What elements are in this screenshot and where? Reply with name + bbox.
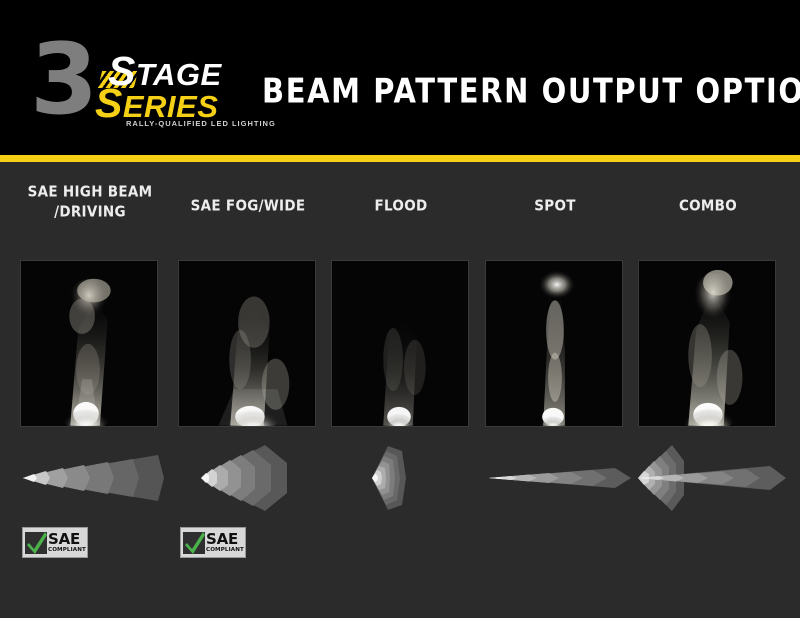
beam-photo-sae-fog-wide bbox=[178, 260, 316, 427]
column-header-flood: FLOOD bbox=[332, 196, 470, 216]
logo-numeral: 3 bbox=[30, 31, 94, 129]
beam-photo-render bbox=[21, 261, 157, 426]
beam-diagram-spot bbox=[485, 443, 637, 513]
checkmark-icon bbox=[25, 532, 47, 554]
beam-diagram-sae-high-beam-driving bbox=[18, 443, 168, 513]
sae-badge-text: SAE COMPLIANT bbox=[206, 532, 244, 554]
beam-diagram-render bbox=[628, 443, 793, 513]
column-header-combo: COMBO bbox=[639, 196, 777, 216]
beam-photo-render bbox=[332, 261, 468, 426]
column-header-sae-high-beam-driving: SAE HIGH BEAM /DRIVING bbox=[21, 182, 159, 221]
page-title: BEAM PATTERN OUTPUT OPTIONS bbox=[262, 74, 787, 108]
footer-strip bbox=[0, 618, 800, 622]
beam-diagram-render bbox=[485, 443, 637, 513]
column-label-line1: FLOOD bbox=[332, 196, 470, 218]
column-label-line1: SPOT bbox=[486, 196, 624, 218]
sae-compliant-badge-high-beam: SAE COMPLIANT bbox=[22, 527, 88, 558]
sae-badge-main: SAE bbox=[206, 532, 244, 547]
beam-diagram-render bbox=[193, 443, 313, 513]
brand-logo: 3 STAGE SERIES RALLY-QUALIFIED LED LIGHT… bbox=[30, 33, 240, 125]
beam-diagram-combo bbox=[628, 443, 793, 513]
checkmark-glyph bbox=[184, 530, 206, 556]
sae-badge-main: SAE bbox=[48, 532, 86, 547]
sae-badge-sub: COMPLIANT bbox=[48, 548, 86, 554]
column-label-line1: COMBO bbox=[639, 196, 777, 218]
column-label-line2: /DRIVING bbox=[21, 202, 159, 224]
column-label-line1: SAE HIGH BEAM bbox=[21, 182, 159, 204]
checkmark-icon bbox=[183, 532, 205, 554]
column-header-sae-fog-wide: SAE FOG/WIDE bbox=[179, 196, 317, 216]
column-header-spot: SPOT bbox=[486, 196, 624, 216]
beam-diagram-render bbox=[18, 443, 168, 513]
beam-photo-render bbox=[179, 261, 315, 426]
sae-badge-text: SAE COMPLIANT bbox=[48, 532, 86, 554]
logo-word-series: SERIES bbox=[95, 83, 218, 124]
beam-photo-combo bbox=[638, 260, 776, 427]
beam-diagram-render bbox=[362, 443, 438, 513]
beam-pattern-infographic: 3 STAGE SERIES RALLY-QUALIFIED LED LIGHT… bbox=[0, 0, 800, 622]
beam-photo-spot bbox=[485, 260, 623, 427]
logo-tagline: RALLY-QUALIFIED LED LIGHTING bbox=[126, 119, 276, 128]
checkmark-glyph bbox=[26, 530, 48, 556]
sae-badge-sub: COMPLIANT bbox=[206, 548, 244, 554]
accent-divider bbox=[0, 155, 800, 162]
beam-diagram-flood bbox=[362, 443, 438, 513]
beam-photo-sae-high-beam-driving bbox=[20, 260, 158, 427]
column-label-line1: SAE FOG/WIDE bbox=[179, 196, 317, 218]
beam-photo-render bbox=[486, 261, 622, 426]
beam-diagram-sae-fog-wide bbox=[193, 443, 313, 513]
beam-photo-flood bbox=[331, 260, 469, 427]
logo-series-cap: S bbox=[95, 80, 123, 126]
sae-compliant-badge-fog-wide: SAE COMPLIANT bbox=[180, 527, 246, 558]
beam-photo-render bbox=[639, 261, 775, 426]
